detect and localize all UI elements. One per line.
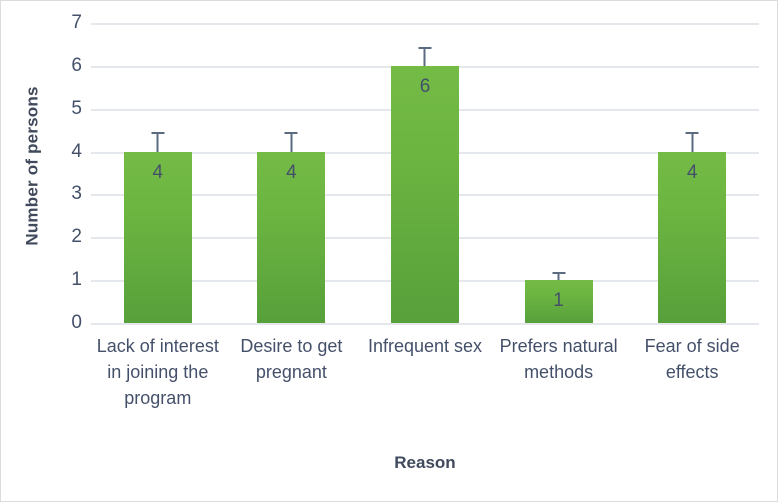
- bar-value-label: 6: [420, 76, 431, 98]
- bar-group[interactable]: 1: [492, 23, 626, 323]
- error-bar: [686, 132, 699, 151]
- y-axis-tick-label: 3: [41, 183, 91, 205]
- y-axis-tick-label: 2: [41, 226, 91, 248]
- bar[interactable]: [391, 66, 459, 323]
- error-bar: [552, 272, 565, 281]
- error-bar-stem: [157, 132, 159, 151]
- y-axis-tick-label: 0: [41, 312, 91, 334]
- error-bar: [151, 132, 164, 151]
- y-axis-tick-label: 5: [41, 98, 91, 120]
- bar-value-label: 1: [553, 290, 564, 312]
- bars-layer: 44614: [91, 23, 759, 323]
- gridline: [91, 323, 759, 325]
- y-axis-tick-labels: 01234567: [41, 1, 91, 502]
- x-axis-category-label: Desire to get pregnant: [225, 333, 359, 385]
- bar-group[interactable]: 4: [625, 23, 759, 323]
- x-axis-category-label: Infrequent sex: [358, 333, 492, 359]
- bar-group[interactable]: 4: [225, 23, 359, 323]
- bar-group[interactable]: 4: [91, 23, 225, 323]
- x-axis-category-labels: Lack of interest in joining the programD…: [91, 333, 759, 443]
- bar-value-label: 4: [687, 162, 698, 184]
- error-bar-stem: [290, 132, 292, 151]
- error-bar: [285, 132, 298, 151]
- y-axis-tick-label: 7: [41, 12, 91, 34]
- bar-value-label: 4: [286, 162, 297, 184]
- x-axis-title: Reason: [91, 453, 759, 473]
- error-bar-stem: [424, 47, 426, 66]
- y-axis-tick-label: 6: [41, 55, 91, 77]
- error-bar: [418, 47, 431, 66]
- x-axis-category-label: Fear of side effects: [625, 333, 759, 385]
- bar-group[interactable]: 6: [358, 23, 492, 323]
- bar-value-label: 4: [153, 162, 164, 184]
- error-bar-stem: [691, 132, 693, 151]
- bar-chart: Number of persons 01234567 44614 Lack of…: [0, 0, 778, 502]
- x-axis-category-label: Prefers natural methods: [492, 333, 626, 385]
- y-axis-tick-label: 1: [41, 269, 91, 291]
- y-axis-tick-label: 4: [41, 141, 91, 163]
- x-axis-category-label: Lack of interest in joining the program: [91, 333, 225, 411]
- y-axis-title-text: Number of persons: [23, 86, 43, 245]
- error-bar-stem: [558, 272, 560, 281]
